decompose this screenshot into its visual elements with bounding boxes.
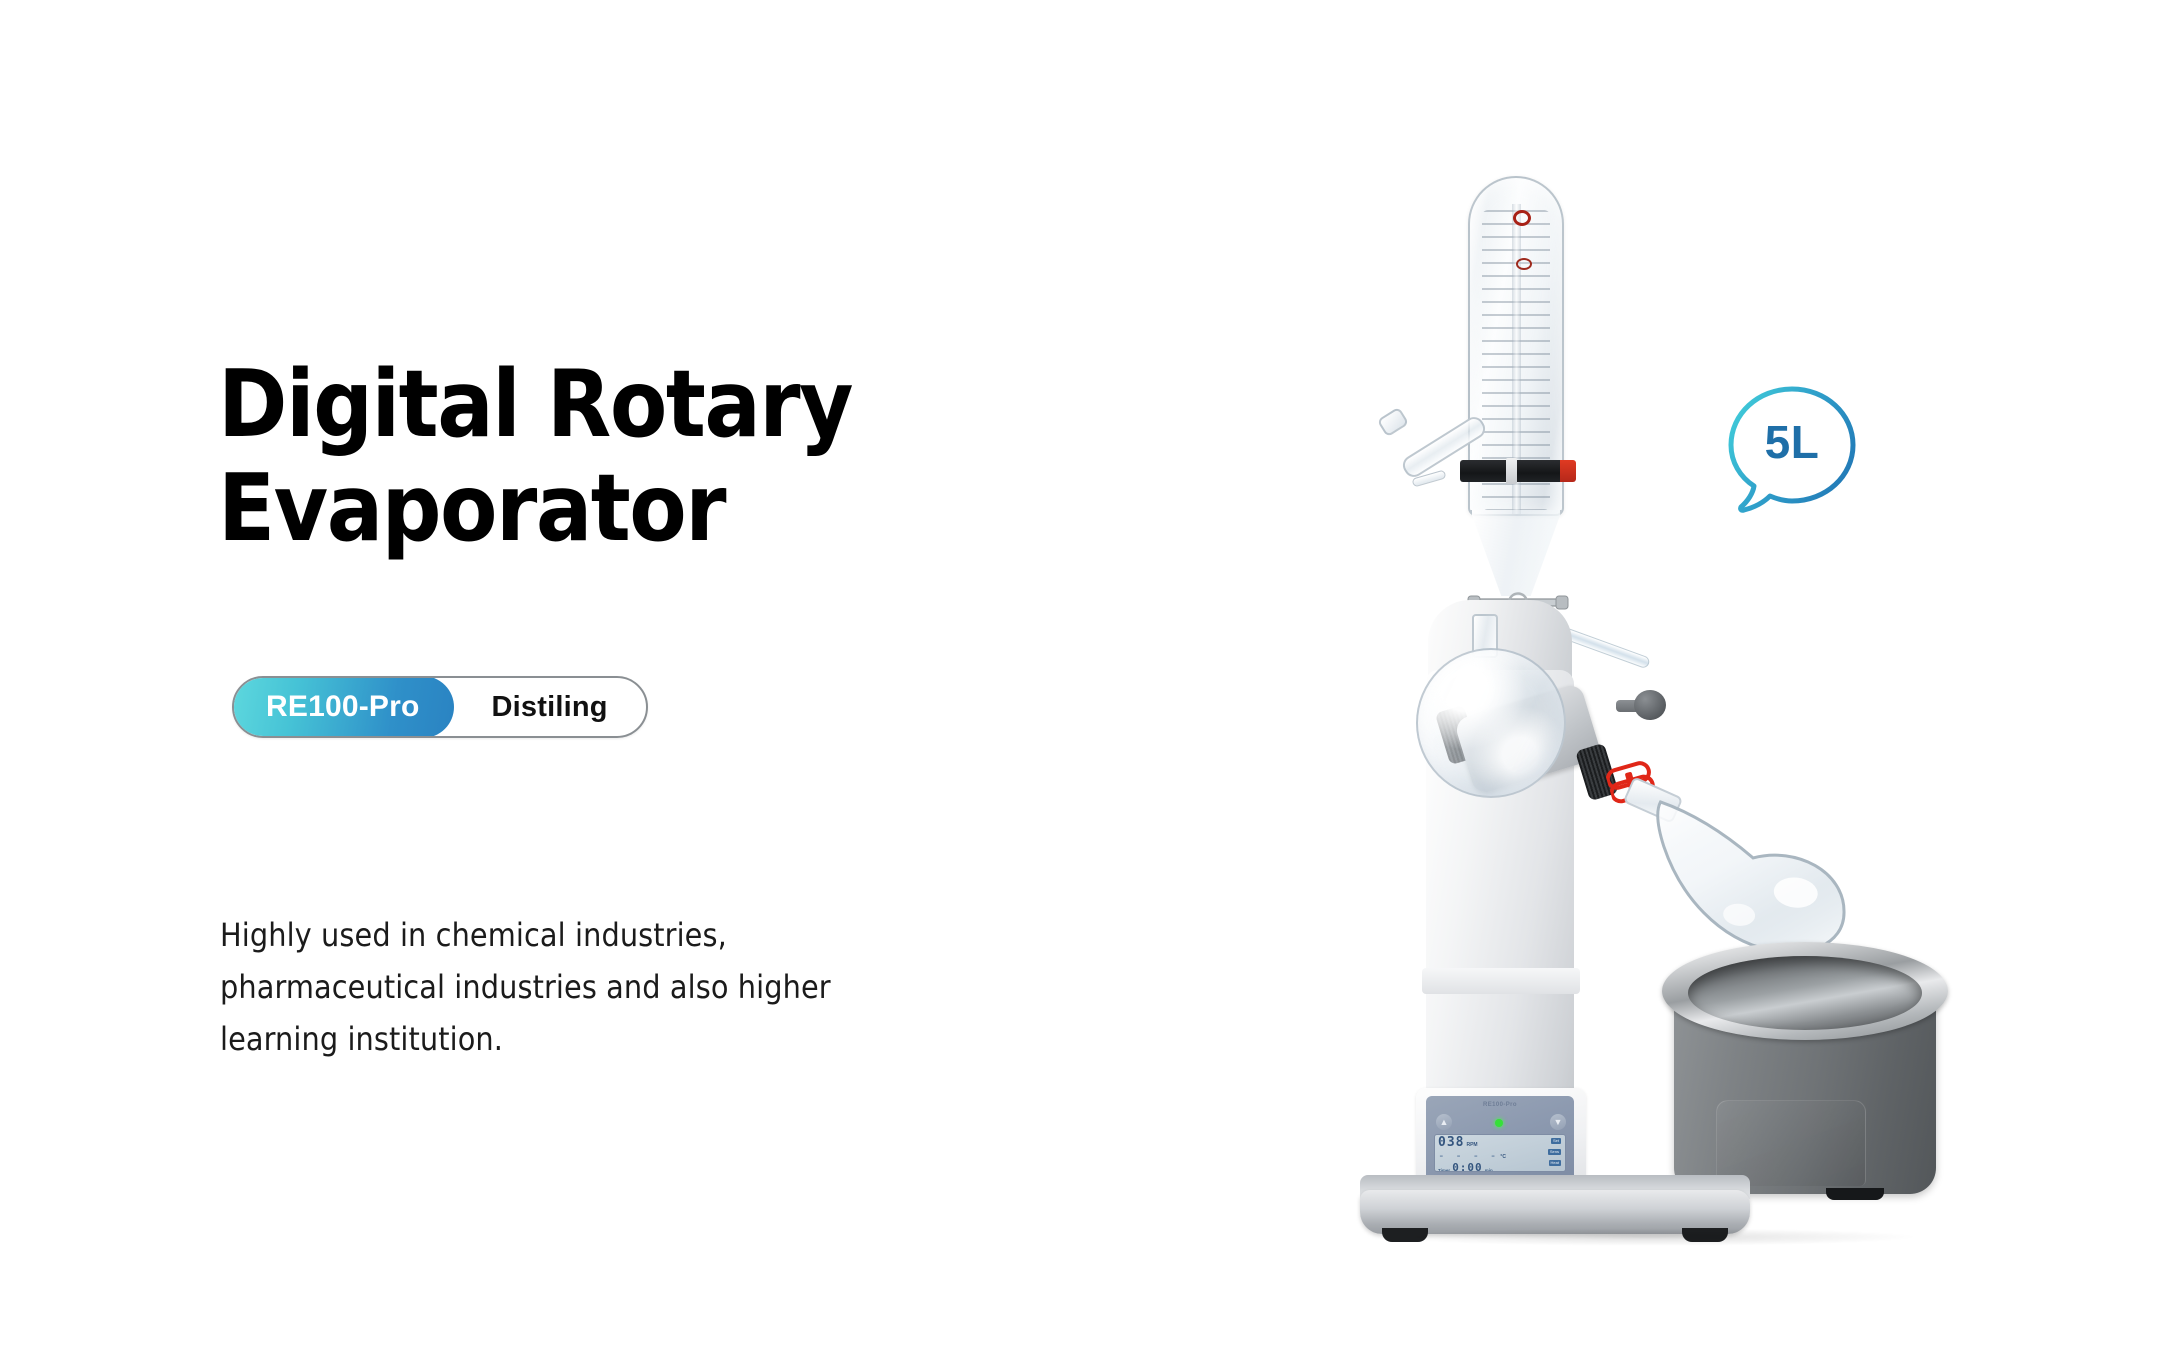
down-arrow-button[interactable]: ▼ [1550,1114,1566,1130]
lcd-tag-heat: Heat [1549,1160,1561,1166]
lcd-timer-row: Timer 0:00 min Heat [1438,1161,1562,1172]
ground-shadow [1380,1228,1920,1246]
lcd-timer-value: 0:00 [1452,1162,1483,1172]
lcd-tag-set: Set [1551,1138,1561,1144]
pill-mode-segment[interactable]: Distiling [454,678,646,736]
receiving-flask [1416,648,1566,798]
lcd-timer-unit: min [1485,1168,1493,1172]
column-shelf [1422,968,1580,994]
condenser-red-fitting-top [1513,210,1531,226]
lcd-speed-value: 038 [1438,1136,1464,1149]
model-mode-pill[interactable]: RE100-Pro Distiling [232,676,648,738]
status-led [1495,1119,1503,1127]
water-bath-foot [1826,1188,1884,1200]
lcd-speed-unit: RPM [1466,1142,1477,1148]
lcd-timer-label: Timer [1438,1168,1450,1172]
evaporating-flask [1640,773,1867,964]
page-title: Digital Rotary Evaporator [218,352,978,560]
water-bath-recessed-panel [1716,1100,1866,1186]
lcd-speed-row: 038 RPM Set [1438,1137,1562,1149]
water-bath-steel-bowl [1688,956,1922,1030]
condenser-strap-buckle [1506,458,1517,484]
control-panel-model-text: RE100-Pro [1426,1102,1574,1108]
vacuum-port-cap [1377,407,1410,438]
up-arrow-button[interactable]: ▲ [1436,1114,1452,1130]
lcd-tag-sens: Sens [1548,1149,1561,1155]
angle-lock-knob[interactable] [1634,690,1666,720]
lcd-temp-unit: °C [1500,1154,1506,1160]
product-image: RE100-Pro ▲ ▼ 038 RPM Set - - - - °C Sen… [1230,200,1950,1260]
lcd-temp-value: - - - - [1438,1150,1498,1161]
condenser-strap-red-tab [1560,460,1576,482]
product-hero-page: Digital Rotary Evaporator RE100-Pro Dist… [0,0,2160,1361]
condenser-red-fitting-lower [1516,258,1532,270]
pill-model-segment[interactable]: RE100-Pro [232,676,454,738]
lcd-display: 038 RPM Set - - - - °C Sens Timer 0:00 m… [1434,1134,1566,1172]
product-description: Highly used in chemical industries, phar… [220,910,920,1065]
lcd-temp-row: - - - - °C Sens [1438,1149,1562,1161]
condenser-funnel [1470,510,1562,596]
